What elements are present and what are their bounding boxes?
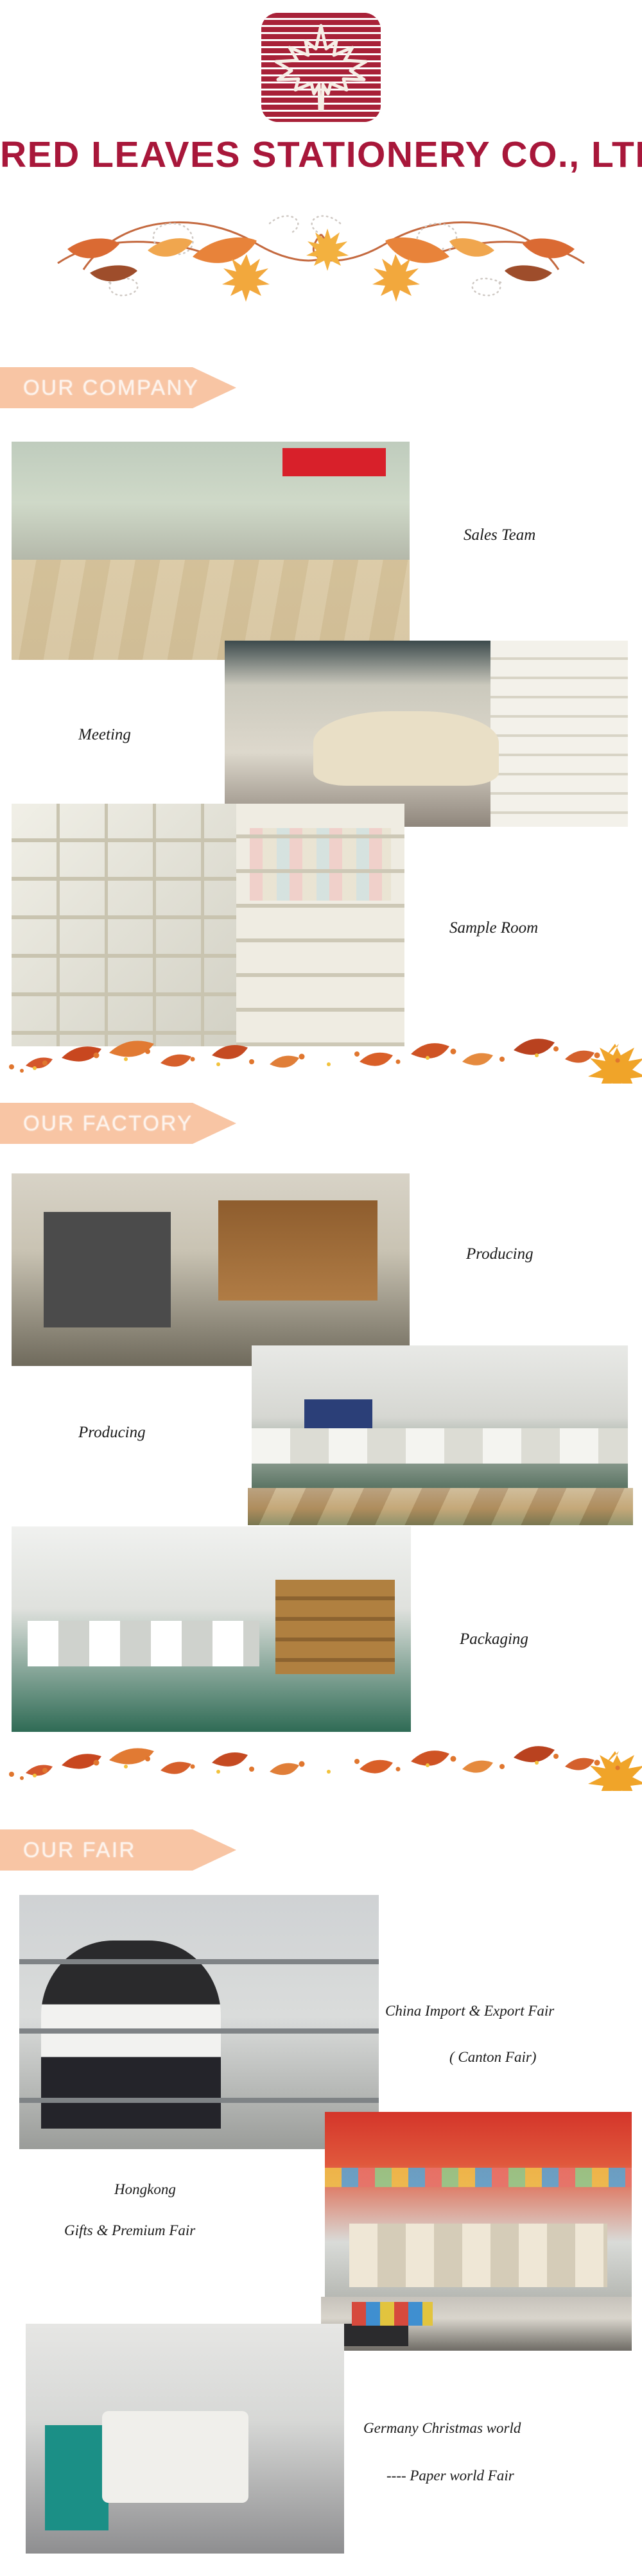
company-logo	[0, 6, 642, 128]
product-detail-page: RED LEAVES STATIONERY CO., LTD	[0, 0, 642, 2576]
caption-packaging: Packaging	[460, 1630, 528, 1648]
caption-canton-line-2: ( Canton Fair)	[449, 2049, 536, 2066]
photo-machine-room	[12, 1173, 410, 1366]
section-banner-fair: OUR FAIR	[0, 1829, 236, 1871]
caption-meeting: Meeting	[78, 726, 131, 744]
section-banner-label-fair: OUR FAIR	[0, 1838, 136, 1862]
caption-producing-2: Producing	[78, 1424, 146, 1442]
photo-sample-shelves	[12, 804, 236, 1046]
photo-packaging-hall	[12, 1526, 411, 1732]
section-banner-label-factory: OUR FACTORY	[0, 1111, 193, 1136]
photo-office-sales-floor	[12, 442, 410, 660]
photo-meeting-room	[225, 641, 628, 827]
caption-sales-team: Sales Team	[464, 526, 535, 544]
photo-hongkong-booth	[325, 2112, 632, 2298]
caption-hongkong-line-1: Hongkong	[114, 2181, 176, 2198]
caption-canton-line-1: China Import & Export Fair	[385, 2003, 554, 2019]
caption-producing-1: Producing	[466, 1245, 534, 1263]
logo-badge	[261, 13, 381, 122]
divider-company	[0, 1026, 642, 1084]
company-title: RED LEAVES STATIONERY CO., LTD	[0, 134, 642, 176]
section-banner-company: OUR COMPANY	[0, 367, 236, 408]
photo-workshop-line	[252, 1345, 628, 1505]
section-banner-label-company: OUR COMPANY	[0, 376, 199, 400]
caption-sample-room: Sample Room	[449, 919, 538, 937]
photo-canton-booth	[19, 1895, 379, 2149]
photo-germany-stand	[321, 2297, 632, 2351]
divider-factory	[0, 1733, 642, 1791]
caption-hongkong-line-2: Gifts & Premium Fair	[64, 2222, 195, 2239]
photo-germany-booth	[26, 2324, 344, 2554]
photo-carton-stack	[248, 1488, 633, 1525]
maple-leaf-icon	[261, 13, 381, 122]
autumn-flourish-ornament	[0, 173, 642, 302]
caption-germany-line-2: ---- Paper world Fair	[386, 2468, 514, 2484]
section-banner-factory: OUR FACTORY	[0, 1103, 236, 1144]
photo-sample-display	[236, 804, 404, 1046]
caption-germany-line-1: Germany Christmas world	[363, 2420, 521, 2437]
